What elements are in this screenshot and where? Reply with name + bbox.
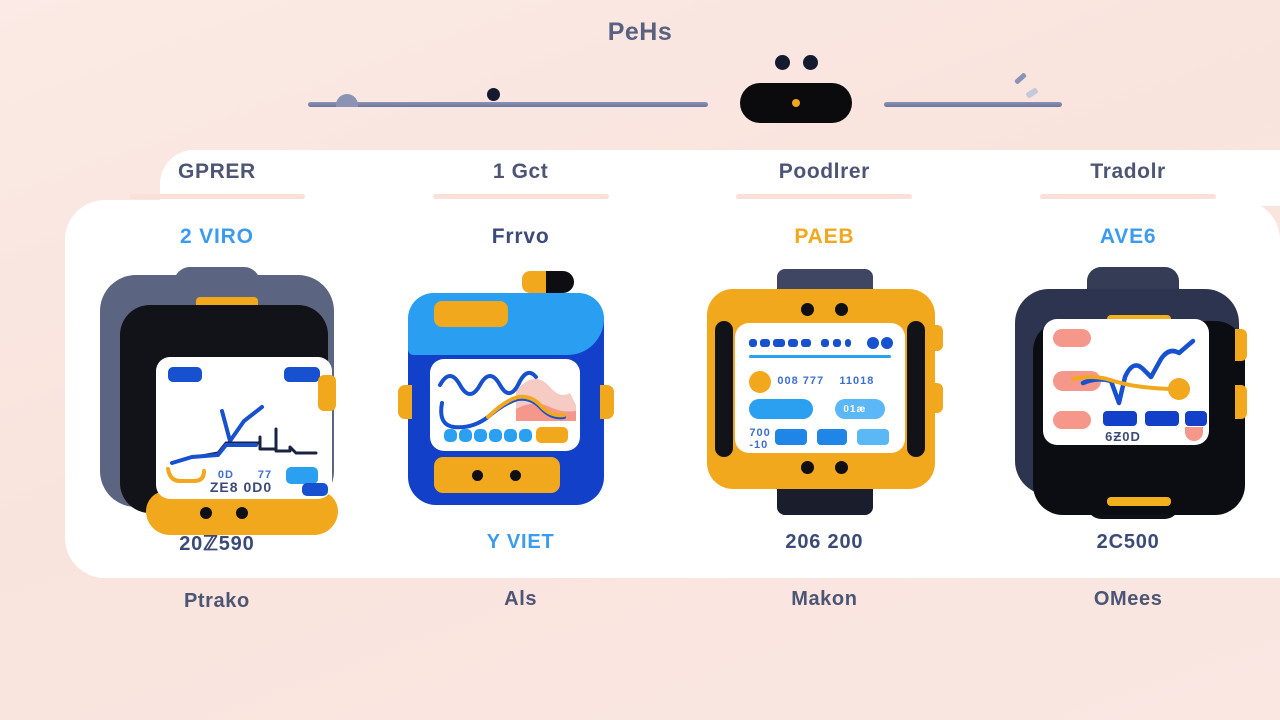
header-bar: PeHs [0,0,1280,140]
column-heading: GPRER [178,150,256,194]
side-button-top[interactable] [1235,329,1247,361]
bezel-bar-right [907,321,925,457]
watch-bezel: 0D 77 ZE8 0D0 [120,305,328,513]
antenna-tip [546,271,574,293]
screen-readout: 6Ƶ0D [1105,429,1141,444]
screen-label-b: 11018 [839,375,874,387]
column-card[interactable]: Tradolr AVE6 [976,150,1280,630]
column-subtitle: 2 VIRO [180,225,254,249]
strap-bottom [777,485,873,515]
rule-right [884,102,1062,107]
column-caption: Makon [791,588,857,611]
two-dots-icon [775,55,821,71]
screen-divider [749,355,891,358]
column-underline [129,194,305,199]
column-card[interactable]: 1 Gct Frrvo [369,150,673,630]
device-screen[interactable]: 0D 77 ZE8 0D0 [156,357,332,499]
watch-body: 0D 77 ZE8 0D0 [100,275,334,507]
screen-chip-accent [536,427,568,443]
screen-status-dot [749,371,771,393]
screen-label-a: 008 777 [777,375,824,387]
column-card[interactable]: GPRER 2 VIRO [65,150,369,630]
column-heading: Poodlrer [779,150,870,194]
device-screen[interactable]: 008 777 11018 01æ 700 -10 [735,323,905,453]
screen-readout: ZE8 0D0 [210,479,272,495]
column-grid: GPRER 2 VIRO [65,150,1280,630]
column-caption: Als [504,588,537,611]
column-subtitle: PAEB [794,225,854,249]
column-underline [1040,194,1216,199]
device-slate-watch[interactable]: 0D 77 ZE8 0D0 [92,267,342,517]
side-button[interactable] [318,375,336,411]
device-screen[interactable] [430,359,580,451]
device-dark-watch[interactable]: 6Ƶ0D [1003,267,1253,517]
top-chip[interactable] [434,301,508,327]
column-value: Y VIET [487,531,555,554]
side-button-right[interactable] [600,385,614,419]
column-card[interactable]: Poodlrer PAEB [673,150,977,630]
device-blue-module[interactable] [396,267,646,517]
device-amber-panel[interactable]: 008 777 11018 01æ 700 -10 [699,267,949,517]
tick-mark-icon [1025,87,1038,98]
column-subtitle: AVE6 [1100,225,1157,249]
column-underline [433,194,609,199]
page-title: PeHs [0,18,1280,47]
side-button-bottom[interactable] [931,383,943,413]
device-screen[interactable]: 6Ƶ0D [1043,319,1209,445]
column-heading: 1 Gct [493,150,549,194]
column-value: 206 200 [785,531,863,554]
black-pill-indicator[interactable] [740,83,852,123]
column-caption: Ptrako [184,590,250,613]
side-button-top[interactable] [931,325,943,351]
node-dot-icon[interactable] [487,88,500,101]
screen-chip [286,467,318,484]
rule-bump-icon [336,94,358,107]
tick-mark-icon [1014,72,1027,84]
side-button-left[interactable] [398,385,412,419]
side-button-bottom[interactable] [1235,385,1247,419]
column-underline [736,194,912,199]
screen-pill[interactable] [749,399,813,419]
column-subtitle: Frrvo [492,225,550,249]
column-value: 2C500 [1097,531,1160,554]
screen-readout: 01æ [843,404,866,415]
column-caption: OMees [1094,588,1163,611]
bottom-button-bar[interactable] [434,457,560,493]
bottom-accent-bar [1107,497,1171,506]
antenna-base [522,271,548,293]
bezel-bar-left [715,321,733,457]
rule-left [308,102,708,107]
column-heading: Tradolr [1090,150,1165,194]
screen-chip [302,483,328,496]
